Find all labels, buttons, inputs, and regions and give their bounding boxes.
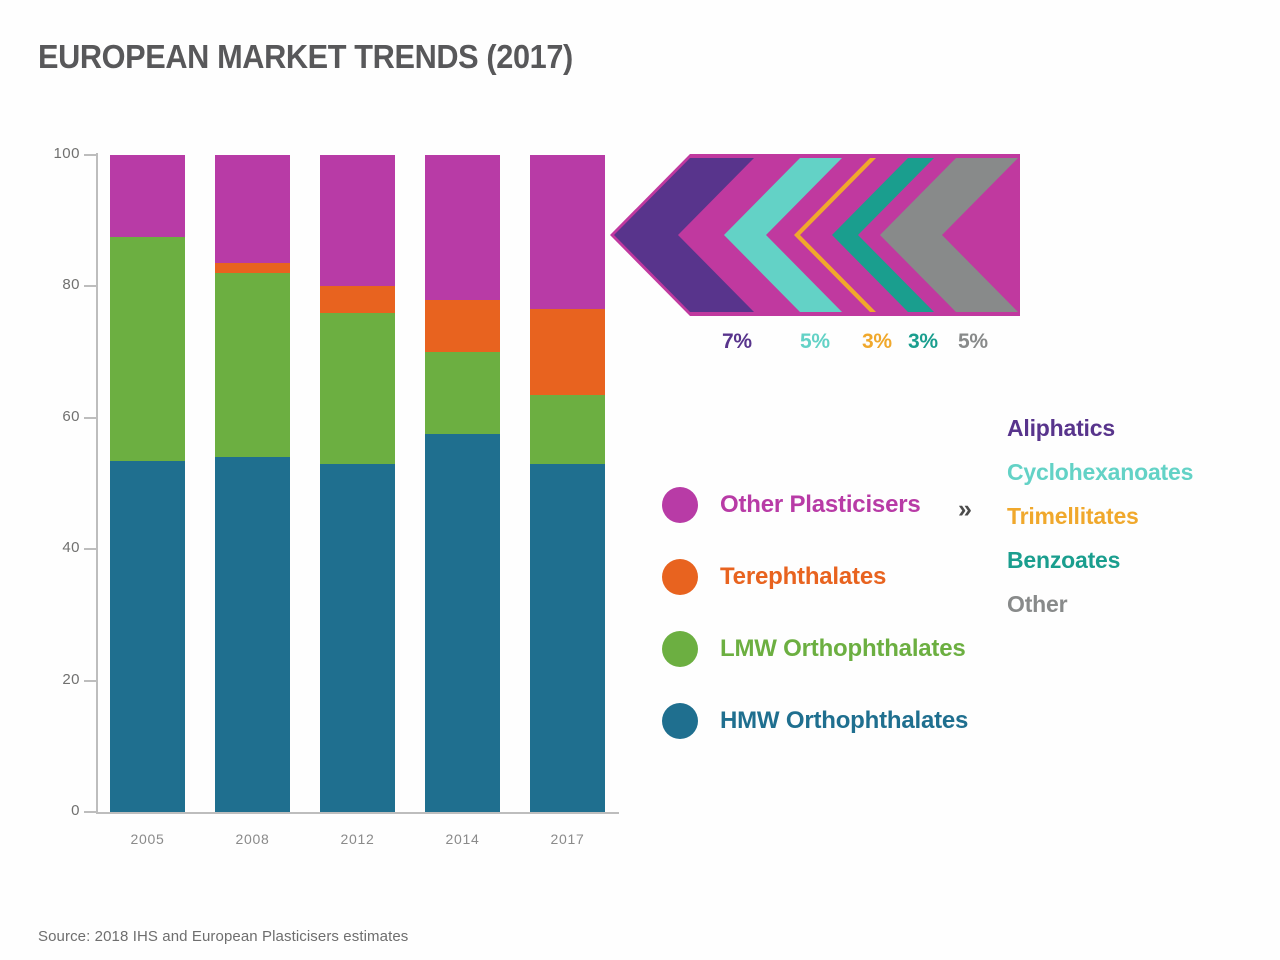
y-tick [84,285,97,287]
bar-segment [110,155,185,237]
x-tick-label: 2012 [320,831,395,847]
bar-segment [215,263,290,273]
breakdown-percent-label: 5% [800,330,830,354]
chart-canvas: EUROPEAN MARKET TRENDS (2017) 0204060801… [0,0,1280,960]
bar-column [425,155,500,812]
legend-item[interactable]: HMW Orthophthalates [662,703,968,739]
bar-segment [110,237,185,460]
bar-segment [320,286,395,312]
source-note: Source: 2018 IHS and European Plasticise… [38,928,408,945]
bar-segment [320,313,395,464]
y-tick [84,417,97,419]
legend-item-label: LMW Orthophthalates [720,635,966,663]
x-axis-line [96,812,619,814]
legend-secondary-item[interactable]: Trimellitates [1007,494,1193,538]
bar-segment [215,155,290,263]
bar-segment [530,464,605,812]
y-tick-label: 80 [38,276,80,293]
y-tick [84,548,97,550]
bar-column [320,155,395,812]
bar-column [215,155,290,812]
circle-dot-icon [662,487,698,523]
legend-secondary-item[interactable]: Cyclohexanoates [1007,450,1193,494]
y-tick-label: 40 [38,539,80,556]
y-tick-label: 20 [38,671,80,688]
breakdown-chevron-graphic [604,152,1024,318]
legend-secondary-item[interactable]: Other [1007,582,1193,626]
breakdown-percent-label: 3% [908,330,938,354]
legend-secondary: AliphaticsCyclohexanoatesTrimellitatesBe… [1007,406,1193,626]
bar-segment [530,155,605,309]
page-title: EUROPEAN MARKET TRENDS (2017) [38,38,573,76]
legend-item-label: Other Plasticisers [720,491,921,519]
bar-segment [215,457,290,812]
breakdown-percent-label: 3% [862,330,892,354]
legend-secondary-item[interactable]: Benzoates [1007,538,1193,582]
bar-segment [425,300,500,353]
circle-dot-icon [662,703,698,739]
bar-segment [530,395,605,464]
x-tick-label: 2005 [110,831,185,847]
legend-item[interactable]: Other Plasticisers [662,487,921,523]
x-tick-label: 2008 [215,831,290,847]
y-tick [84,680,97,682]
y-tick-label: 100 [38,145,80,162]
bar-column [110,155,185,812]
y-tick-label: 60 [38,408,80,425]
bar-segment [320,464,395,812]
bar-column [530,155,605,812]
bar-segment [320,155,395,286]
chevron-svg [604,152,1024,318]
bar-segment [530,309,605,394]
y-tick [84,154,97,156]
y-axis-line [96,153,98,814]
y-tick-label: 0 [38,802,80,819]
legend-item[interactable]: LMW Orthophthalates [662,631,966,667]
breakdown-percent-label: 7% [722,330,752,354]
legend-item-label: HMW Orthophthalates [720,707,968,735]
x-tick-label: 2017 [530,831,605,847]
bar-segment [425,155,500,300]
legend-item[interactable]: Terephthalates [662,559,886,595]
chevron-double-right-icon: » [958,495,970,524]
bar-segment [215,273,290,457]
circle-dot-icon [662,631,698,667]
circle-dot-icon [662,559,698,595]
bar-segment [425,434,500,812]
x-tick-label: 2014 [425,831,500,847]
bar-segment [110,461,185,812]
legend-secondary-item[interactable]: Aliphatics [1007,406,1193,450]
legend-item-label: Terephthalates [720,563,886,591]
y-tick [84,811,97,813]
bar-segment [425,352,500,434]
breakdown-percent-label: 5% [958,330,988,354]
